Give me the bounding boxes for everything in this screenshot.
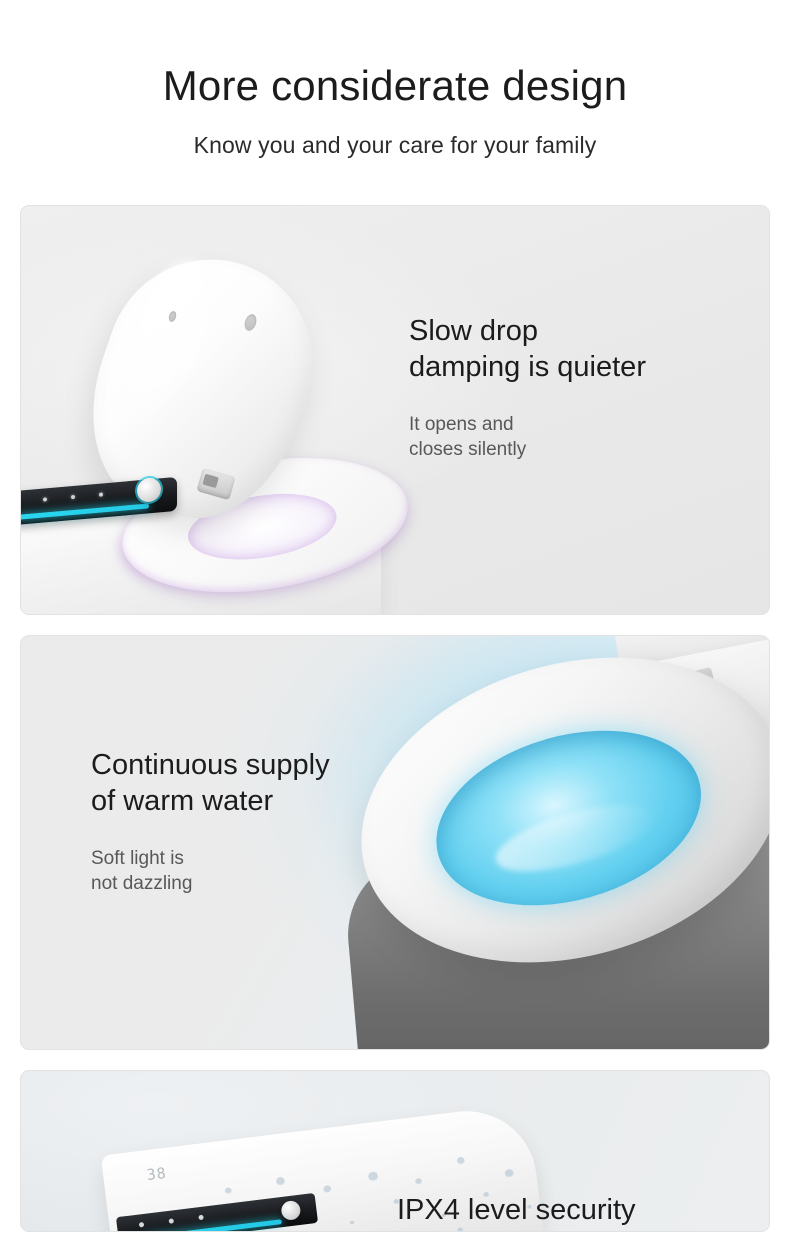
card-subtext: Soft light is not dazzling — [91, 846, 421, 896]
card-heading: Continuous supply of warm water — [91, 748, 421, 820]
panel-button-icon — [99, 492, 103, 496]
card-text-block: Slow drop damping is quieter It opens an… — [409, 314, 739, 462]
panel-button-icon — [43, 497, 47, 501]
card-text-block: IPX4 level security — [397, 1193, 747, 1229]
panel-button-icon — [139, 1222, 145, 1228]
card-heading: IPX4 level security — [397, 1193, 747, 1229]
cyan-night-light-glow — [416, 702, 721, 934]
product-feature-page: More considerate design Know you and you… — [0, 0, 790, 1252]
card-text-block: Continuous supply of warm water Soft lig… — [91, 748, 421, 896]
card-heading: Slow drop damping is quieter — [409, 314, 739, 386]
panel-button-icon — [198, 1215, 204, 1221]
feature-card-list: Slow drop damping is quieter It opens an… — [0, 205, 790, 1232]
feature-card-ipx4-level-security[interactable]: 38 IPX4 level security — [20, 1070, 770, 1232]
feature-card-continuous-warm-water[interactable]: Continuous supply of warm water Soft lig… — [20, 635, 770, 1050]
feature-card-slow-drop-damping[interactable]: Slow drop damping is quieter It opens an… — [20, 205, 770, 615]
page-header: More considerate design Know you and you… — [0, 0, 790, 159]
page-subtitle: Know you and your care for your family — [0, 132, 790, 159]
control-knob — [280, 1200, 301, 1221]
panel-button-icon — [169, 1218, 175, 1224]
page-title: More considerate design — [0, 64, 790, 108]
card-subtext: It opens and closes silently — [409, 412, 739, 462]
panel-button-icon — [71, 495, 75, 499]
